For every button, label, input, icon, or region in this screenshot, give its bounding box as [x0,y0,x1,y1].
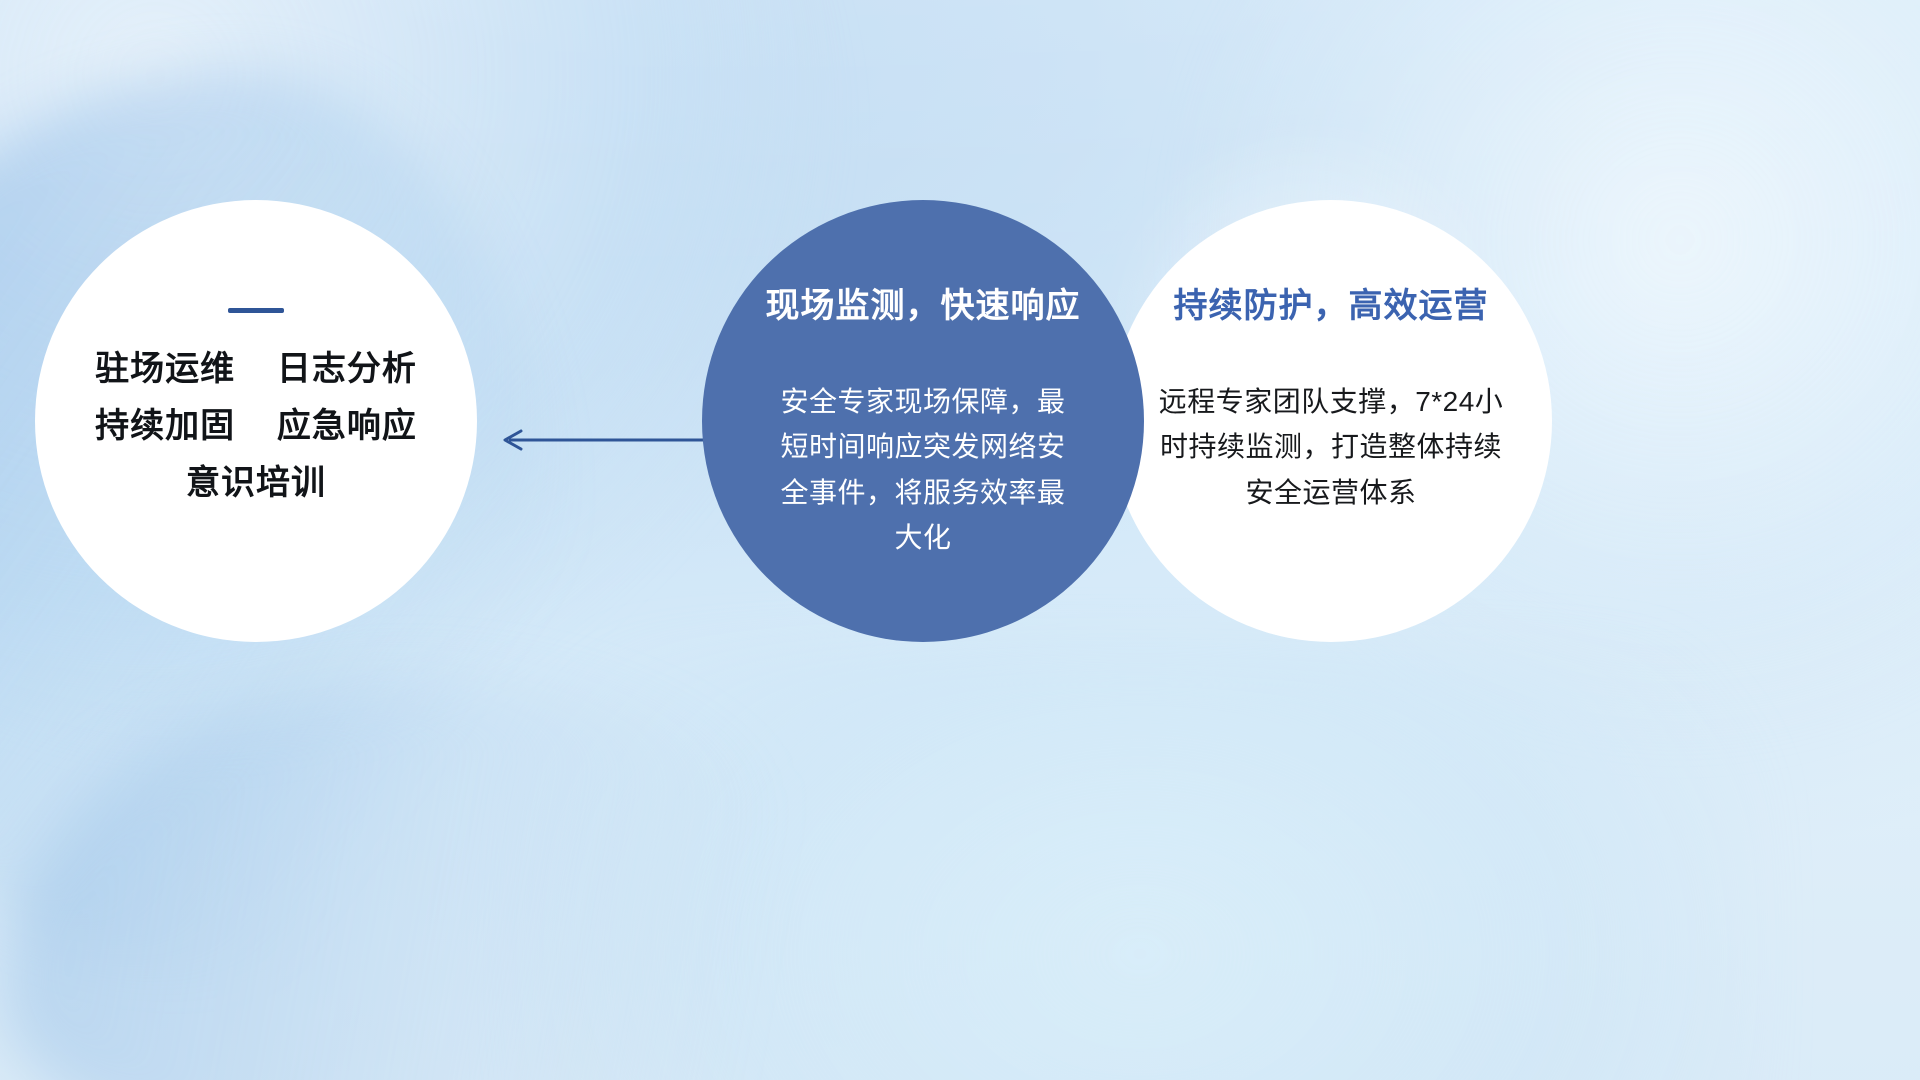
list-item: 驻场运维 日志分析 [95,349,417,390]
right-circle-body: 远程专家团队支撑，7*24小时持续监测，打造整体持续安全运营体系 [1151,379,1511,515]
middle-circle-title: 现场监测，快速响应 [766,286,1081,327]
left-capability-list: 驻场运维 日志分析 持续加固 应急响应 意识培训 [95,349,417,503]
left-capability-circle[interactable]: 驻场运维 日志分析 持续加固 应急响应 意识培训 [35,200,477,642]
horizontal-dash-icon [228,308,284,313]
arrow-left-icon [495,418,715,462]
list-item: 持续加固 应急响应 [95,406,417,447]
slide-canvas: 驻场运维 日志分析 持续加固 应急响应 意识培训 现场监测，快速响应 安全专家现… [0,0,1920,1080]
middle-onsite-circle[interactable]: 现场监测，快速响应 安全专家现场保障，最短时间响应突发网络安全事件，将服务效率最… [702,200,1144,642]
right-circle-title: 持续防护，高效运营 [1174,286,1489,327]
middle-circle-body: 安全专家现场保障，最短时间响应突发网络安全事件，将服务效率最大化 [778,379,1068,560]
list-item: 意识培训 [186,463,326,504]
right-operations-circle[interactable]: 持续防护，高效运营 远程专家团队支撑，7*24小时持续监测，打造整体持续安全运营… [1110,200,1552,642]
